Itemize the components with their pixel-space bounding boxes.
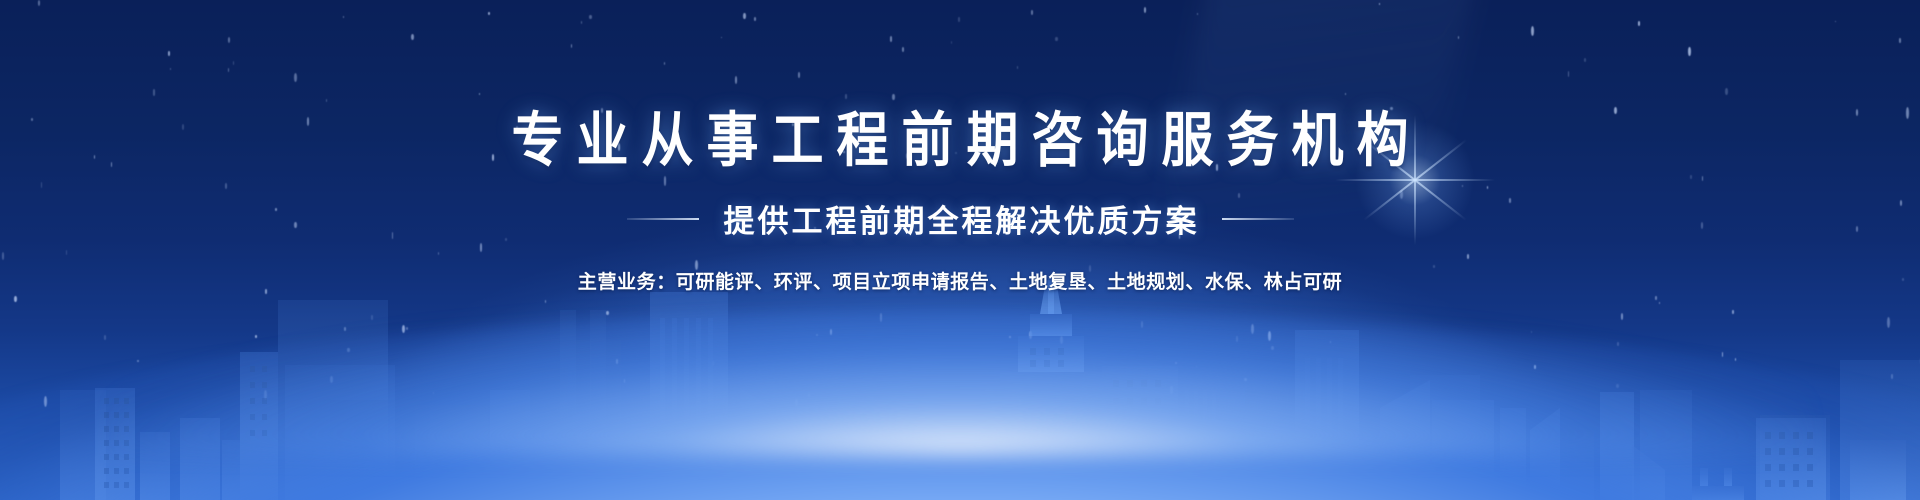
banner-headline: 专业从事工程前期咨询服务机构 xyxy=(498,108,1421,174)
banner-services-line: 主营业务：可研能评、环评、项目立项申请报告、土地复垦、土地规划、水保、林占可研 xyxy=(578,267,1342,294)
banner-subtitle: 提供工程前期全程解决优质方案 xyxy=(721,196,1200,241)
banner-content: 专业从事工程前期咨询服务机构 提供工程前期全程解决优质方案 主营业务：可研能评、… xyxy=(0,0,1920,500)
decorative-dash-right xyxy=(1222,218,1294,220)
decorative-dash-left xyxy=(627,218,699,220)
hero-banner: 专业从事工程前期咨询服务机构 提供工程前期全程解决优质方案 主营业务：可研能评、… xyxy=(0,0,1920,500)
banner-subtitle-row: 提供工程前期全程解决优质方案 xyxy=(627,196,1294,241)
